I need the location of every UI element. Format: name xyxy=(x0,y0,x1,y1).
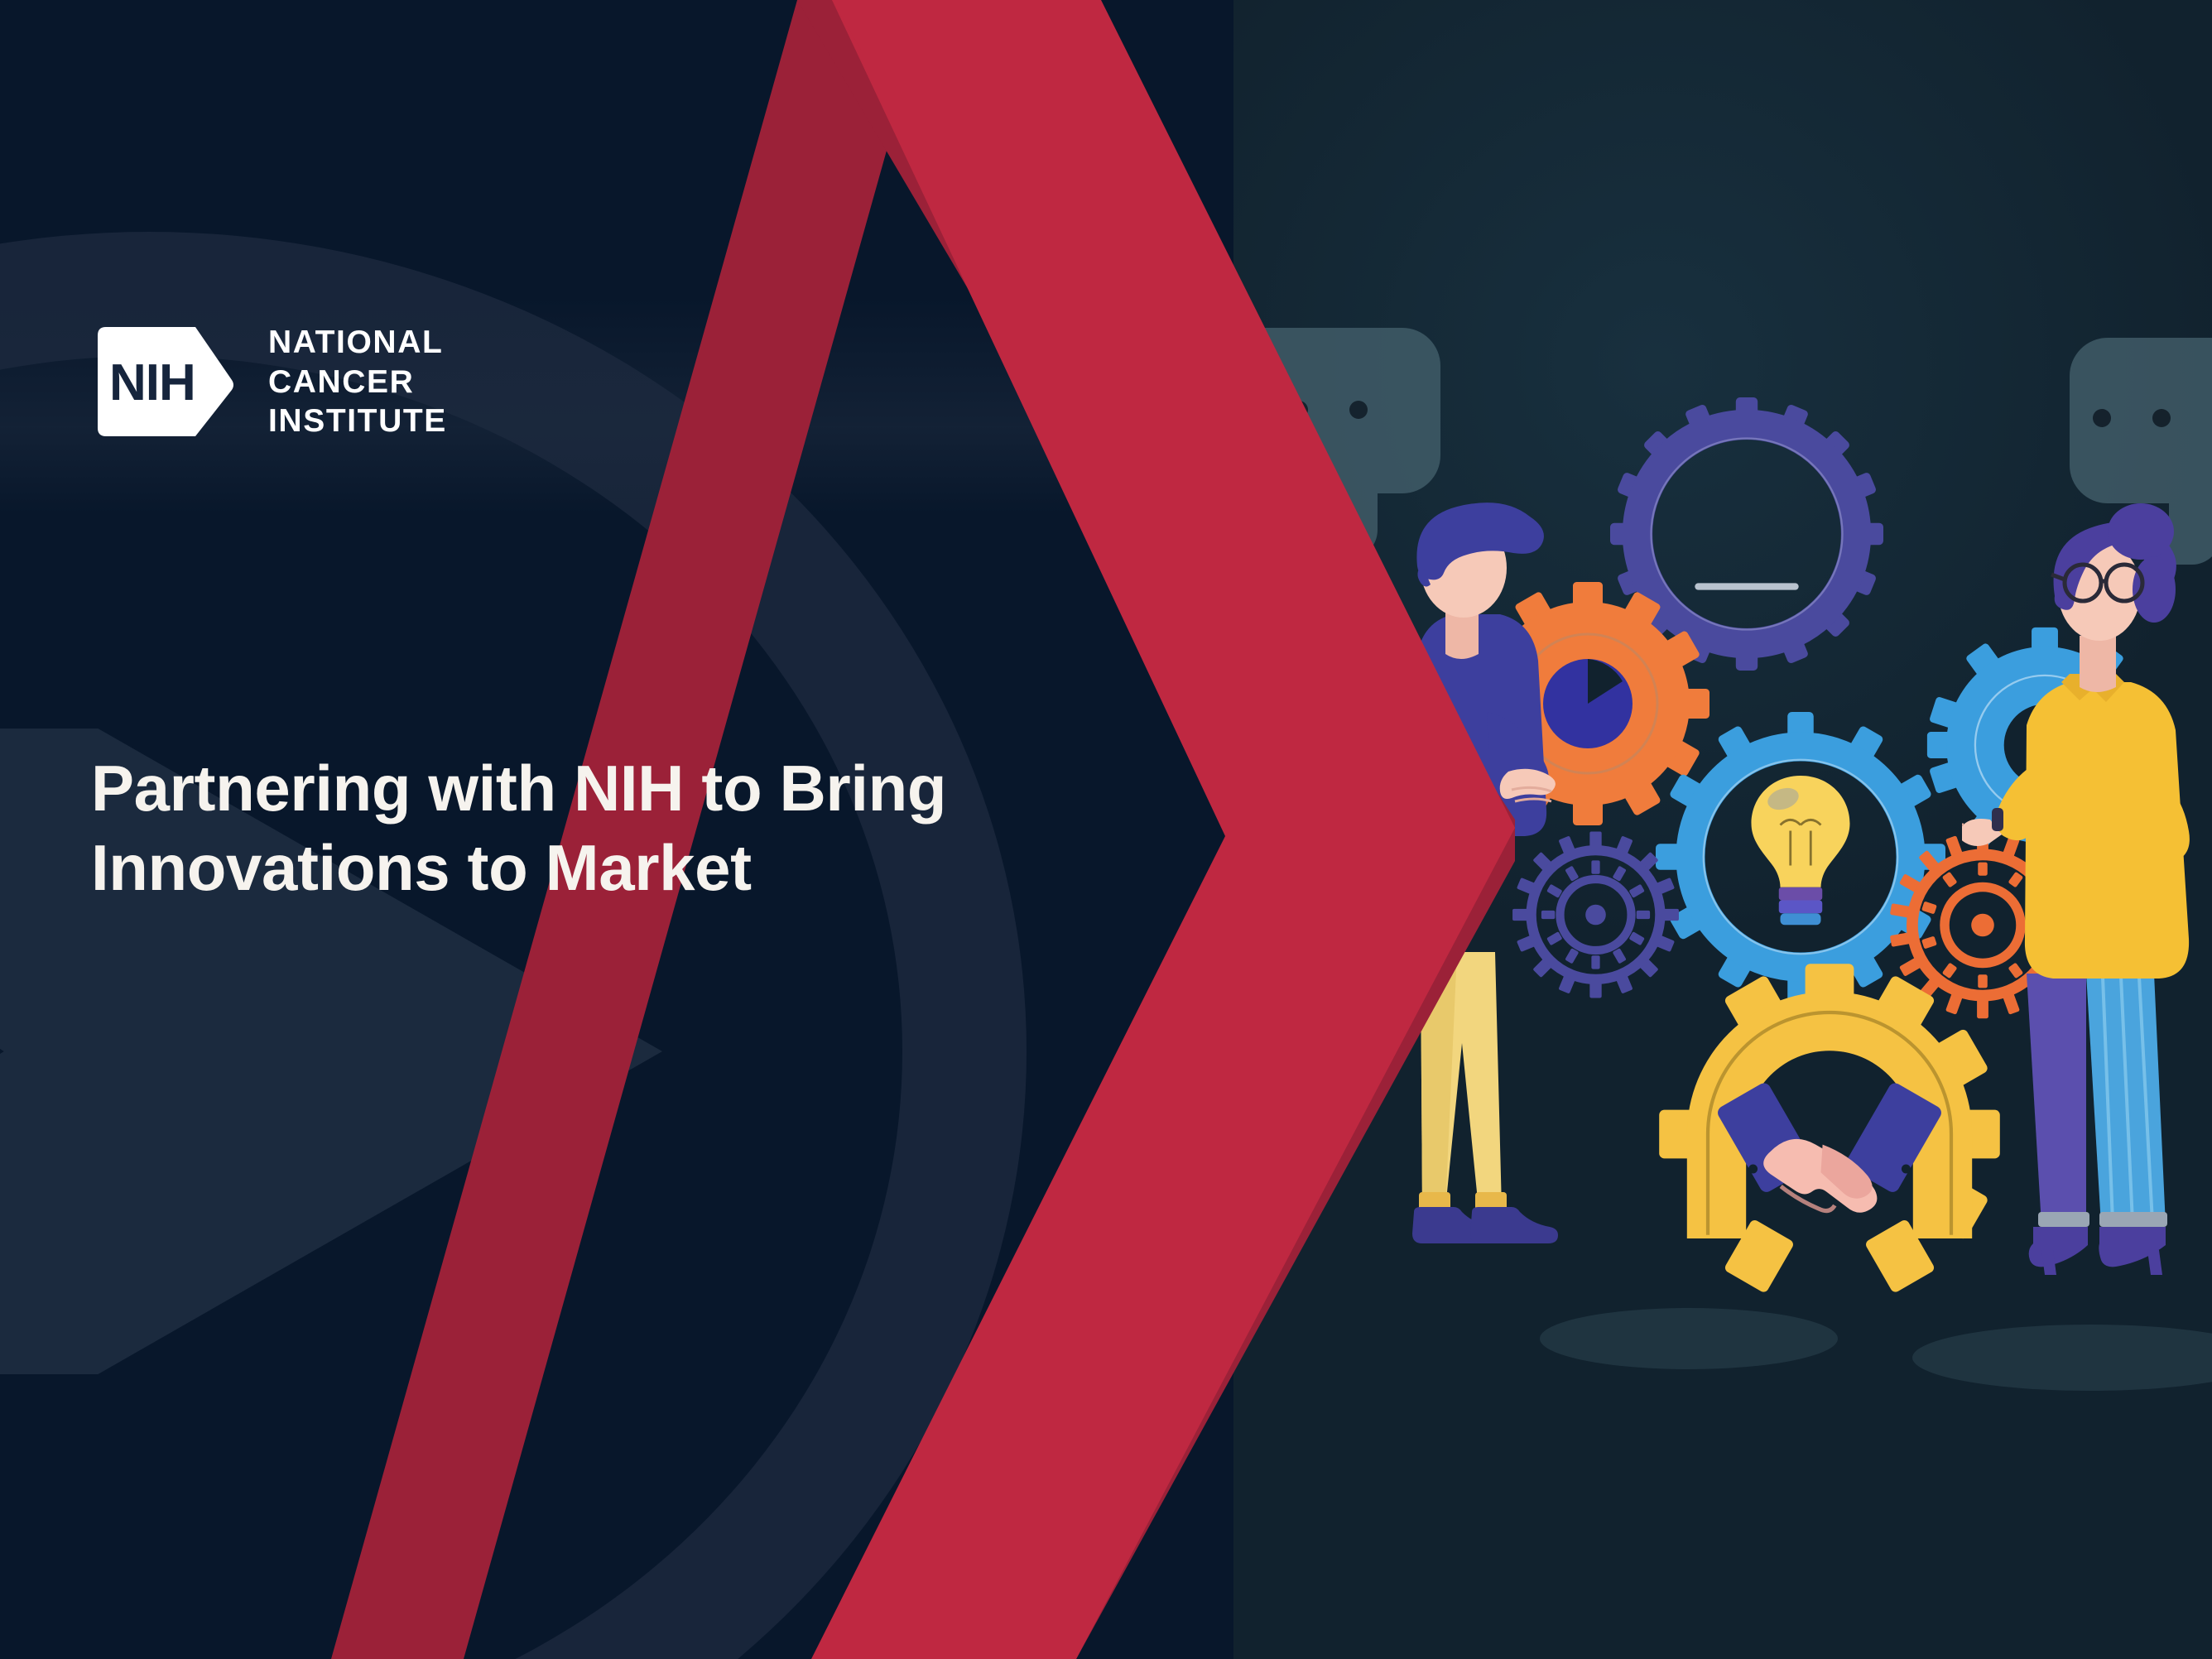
person-right xyxy=(1962,480,2212,1341)
nci-logo-text: NATIONAL CANCER INSTITUTE xyxy=(268,323,447,441)
speech-bubble-dot xyxy=(1290,401,1308,419)
slide-root: NIH NATIONAL CANCER INSTITUTE Partnering… xyxy=(0,0,2212,1659)
illustration-panel xyxy=(1233,0,2212,1659)
page-title-line-2: Innovations to Market xyxy=(91,829,969,908)
logo-line-national: NATIONAL xyxy=(268,323,447,363)
logo-line-institute: INSTITUTE xyxy=(268,402,447,441)
svg-text:NIH: NIH xyxy=(109,354,195,411)
lightbulb-icon xyxy=(1752,776,1850,925)
nih-nci-logo: NIH NATIONAL CANCER INSTITUTE xyxy=(91,323,447,441)
speech-bubble-dot xyxy=(2152,409,2171,427)
page-title: Partnering with NIH to Bring Innovations… xyxy=(91,749,969,908)
handshake-icon xyxy=(1715,1080,1944,1212)
speech-bubble-dot xyxy=(2093,409,2111,427)
logo-line-cancer: CANCER xyxy=(268,363,447,402)
nih-logo-mark-icon: NIH xyxy=(91,324,240,440)
page-title-line-1: Partnering with NIH to Bring xyxy=(91,749,969,829)
person-left xyxy=(1325,464,1598,1341)
speech-bubble-right-icon xyxy=(2070,338,2212,503)
gear-yellow-handshake xyxy=(1656,960,2003,1308)
speech-bubble-dot xyxy=(1349,401,1368,419)
